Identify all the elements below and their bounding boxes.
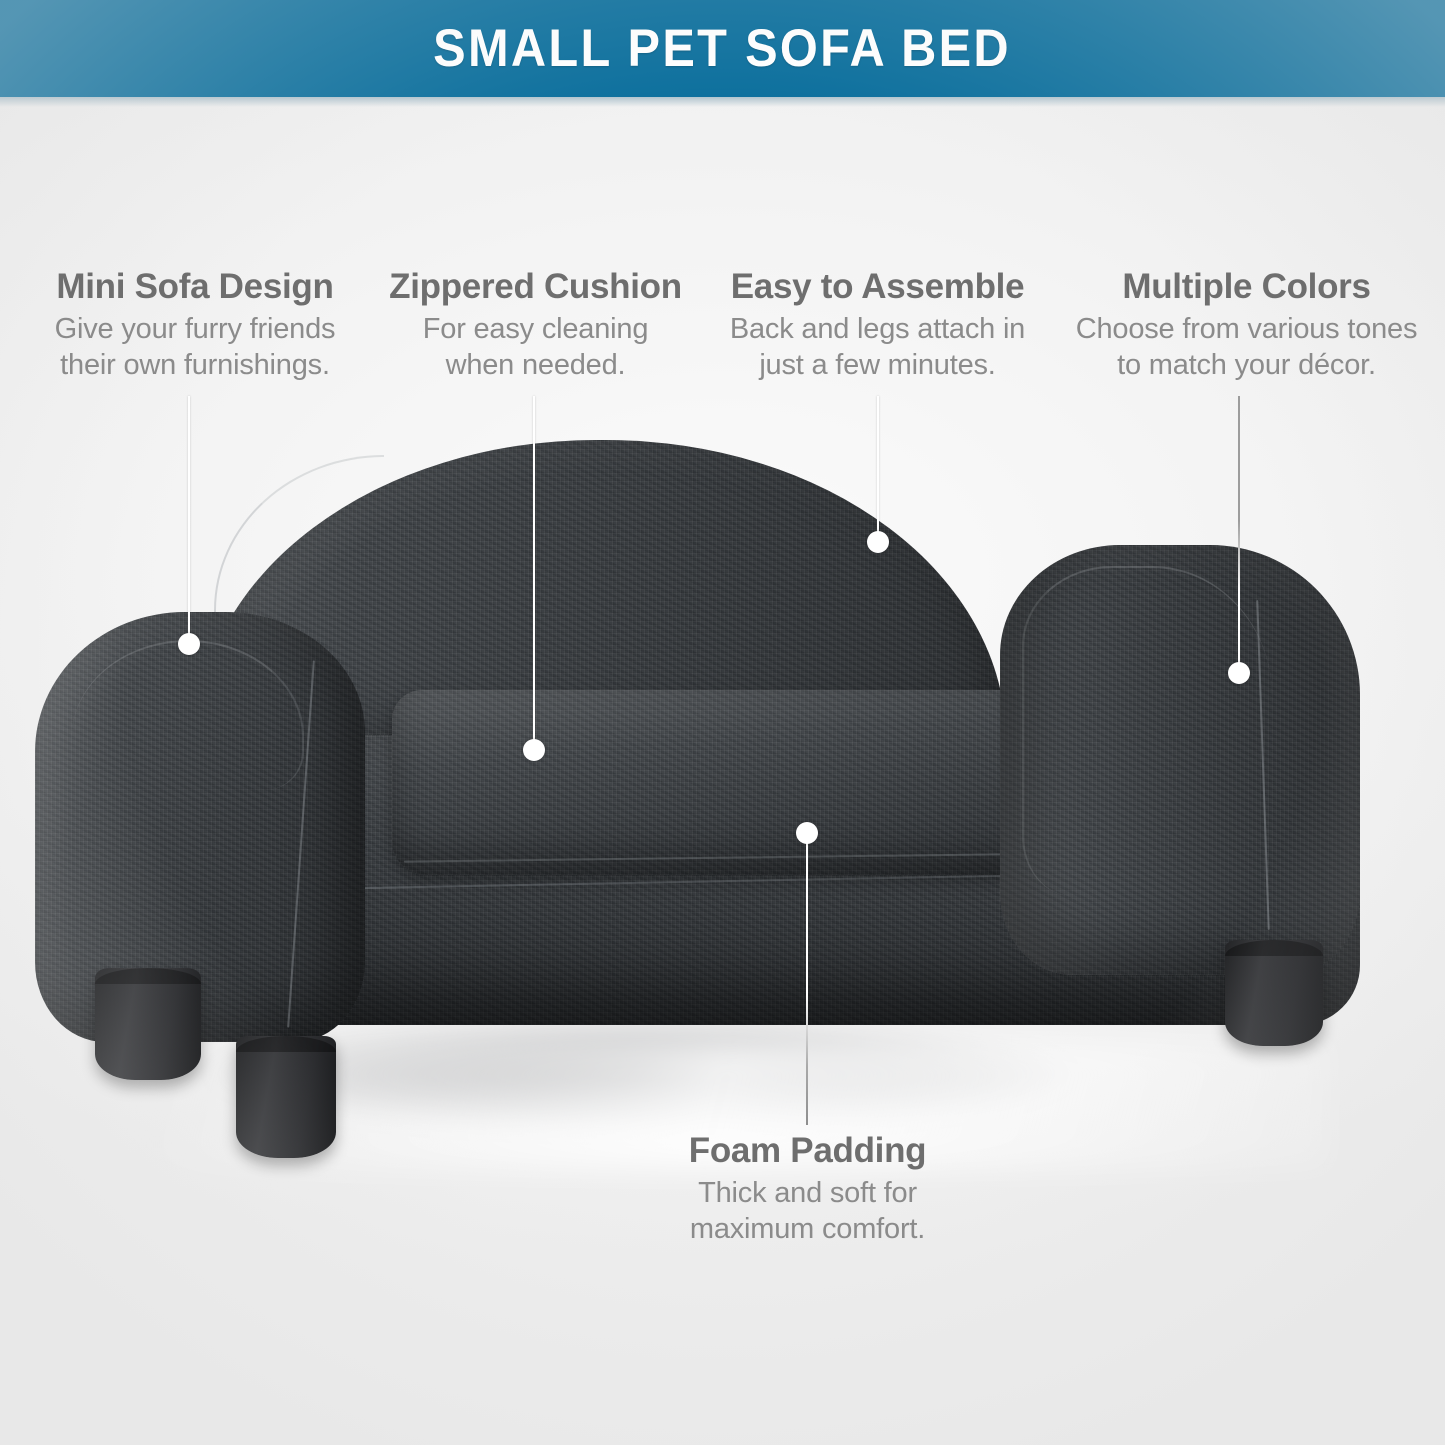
callout-body-line: Thick and soft for (625, 1175, 990, 1212)
callout-body-line: Give your furry friends (0, 311, 390, 348)
leg-top-shadow (95, 968, 201, 984)
callout-title: Foam Padding (625, 1132, 990, 1170)
callout-multiple-colors: Multiple Colors Choose from various tone… (1048, 268, 1445, 384)
callout-title: Zippered Cushion (363, 268, 708, 306)
leader-dot (1228, 662, 1250, 684)
callout-foam-padding: Foam Padding Thick and soft for maximum … (625, 1132, 990, 1248)
callout-body-line: just a few minutes. (700, 347, 1055, 384)
callout-body: Give your furry friends their own furnis… (0, 311, 390, 384)
callout-body-line: Choose from various tones (1048, 311, 1445, 348)
callout-body-line: their own furnishings. (0, 347, 390, 384)
leader-stem (533, 396, 535, 750)
leader-dot (523, 739, 545, 761)
leader-dot (178, 633, 200, 655)
leader-dot (796, 822, 818, 844)
callout-body-line: when needed. (363, 347, 708, 384)
callout-body: Back and legs attach in just a few minut… (700, 311, 1055, 384)
leader-stem (188, 396, 190, 644)
callout-body: Thick and soft for maximum comfort. (625, 1175, 990, 1248)
callout-title: Multiple Colors (1048, 268, 1445, 306)
leader-dot (867, 531, 889, 553)
sofa-leg-front-middle (236, 1036, 336, 1158)
infographic-page: SMALL PET SOFA BED (0, 0, 1445, 1445)
leader-stem (1238, 396, 1240, 673)
callout-mini-sofa-design: Mini Sofa Design Give your furry friends… (0, 268, 390, 384)
leg-top-shadow (236, 1036, 336, 1052)
callout-body-line: to match your décor. (1048, 347, 1445, 384)
leg-top-shadow (1225, 940, 1323, 956)
callout-body: For easy cleaning when needed. (363, 311, 708, 384)
callout-easy-to-assemble: Easy to Assemble Back and legs attach in… (700, 268, 1055, 384)
callout-body-line: For easy cleaning (363, 311, 708, 348)
callout-body: Choose from various tones to match your … (1048, 311, 1445, 384)
sofa-right-arm-inner-seam (1022, 566, 1272, 896)
sofa-leg-front-left (95, 968, 201, 1080)
leader-stem (806, 833, 808, 1125)
callout-body-line: Back and legs attach in (700, 311, 1055, 348)
callout-title: Easy to Assemble (700, 268, 1055, 306)
sofa-leg-back-right (1225, 940, 1323, 1046)
leader-stem (877, 396, 879, 542)
callout-zippered-cushion: Zippered Cushion For easy cleaning when … (363, 268, 708, 384)
callout-body-line: maximum comfort. (625, 1211, 990, 1248)
callout-title: Mini Sofa Design (0, 268, 390, 306)
